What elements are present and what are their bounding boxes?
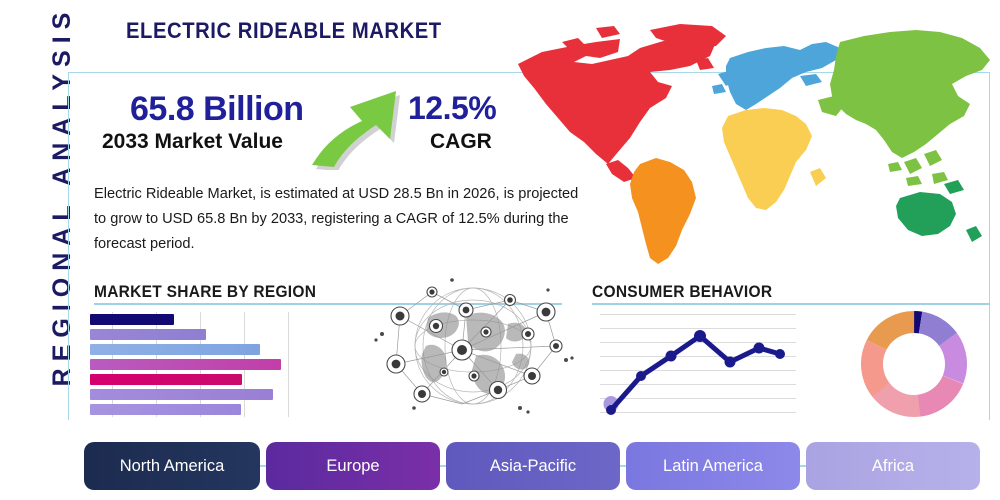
- cagr-caption: CAGR: [430, 130, 492, 154]
- bar-item: [90, 344, 260, 355]
- donut-chart: [858, 308, 970, 420]
- bar-item: [90, 374, 242, 385]
- bar-item: [90, 359, 281, 370]
- infographic-page: REGIONAL ANALYSIS ELECTRIC RIDEABLE MARK…: [0, 0, 1000, 500]
- region-button-label: Europe: [326, 457, 379, 476]
- bar-item: [90, 314, 174, 325]
- region-button-label: Africa: [872, 457, 914, 476]
- section-title-market-share: MARKET SHARE BY REGION: [94, 283, 316, 302]
- section-rule-consumer-behavior: [592, 303, 990, 305]
- region-button-label: Asia-Pacific: [490, 457, 576, 476]
- section-title-consumer-behavior: CONSUMER BEHAVIOR: [592, 283, 772, 302]
- bar-item: [90, 329, 206, 340]
- growth-arrow-icon: [306, 84, 416, 170]
- summary-paragraph: Electric Rideable Market, is estimated a…: [94, 182, 594, 257]
- market-value-caption: 2033 Market Value: [102, 130, 283, 154]
- page-title: ELECTRIC RIDEABLE MARKET: [126, 18, 442, 44]
- region-button-label: Latin America: [663, 457, 763, 476]
- market-share-bar-chart: [90, 312, 305, 417]
- key-stats: 65.8 Billion 2033 Market Value 12.5% CAG…: [96, 92, 516, 172]
- consumer-behavior-line-chart: [600, 310, 796, 418]
- cagr-number: 12.5%: [408, 90, 496, 127]
- region-button-africa[interactable]: Africa: [806, 442, 980, 490]
- global-network-globe-icon: [370, 272, 575, 422]
- market-value-number: 65.8 Billion: [130, 90, 304, 129]
- region-button-label: North America: [120, 457, 225, 476]
- region-button-asia-pacific[interactable]: Asia-Pacific: [446, 442, 620, 490]
- region-button-europe[interactable]: Europe: [266, 442, 440, 490]
- region-button-bar: North America Europe Asia-Pacific Latin …: [84, 442, 980, 490]
- region-button-north-america[interactable]: North America: [84, 442, 260, 490]
- bar-item: [90, 389, 273, 400]
- region-button-latin-america[interactable]: Latin America: [626, 442, 800, 490]
- bar-item: [90, 404, 241, 415]
